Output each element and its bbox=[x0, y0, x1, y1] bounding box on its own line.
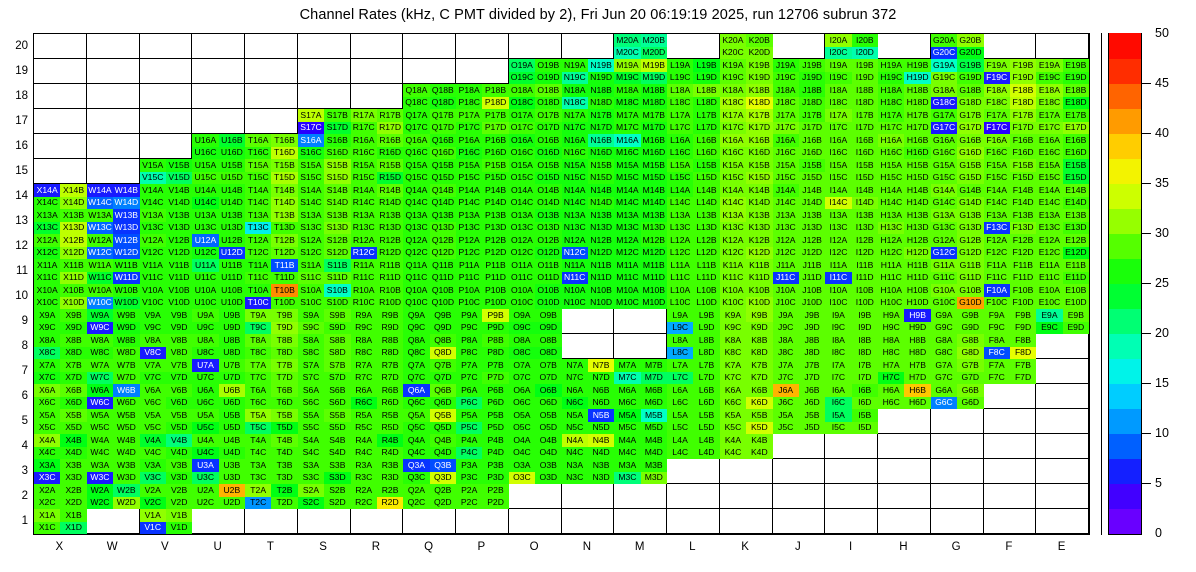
channel-subcell: T9C bbox=[245, 322, 271, 335]
channel-subcell: N4C bbox=[562, 447, 588, 460]
heatmap-cell: P4AP4BP4CP4D bbox=[456, 434, 509, 459]
channel-subcell: H8C bbox=[878, 347, 904, 360]
channel-subcell: P11B bbox=[482, 259, 508, 272]
channel-subcell: F7B bbox=[1010, 359, 1036, 372]
channel-subcell: T8C bbox=[245, 347, 271, 360]
channel-subcell: V14C bbox=[140, 197, 166, 210]
channel-subcell: J19B bbox=[799, 59, 825, 72]
channel-subcell: V11B bbox=[166, 259, 192, 272]
channel-subcell: M15C bbox=[614, 172, 640, 185]
heatmap-cell bbox=[140, 84, 193, 109]
channel-subcell: H6D bbox=[904, 397, 930, 410]
channel-subcell: S16D bbox=[324, 147, 350, 160]
channel-subcell: U7C bbox=[192, 372, 218, 385]
heatmap-cell: Q3AQ3BQ3CQ3D bbox=[403, 459, 456, 484]
channel-subcell: X2D bbox=[60, 497, 86, 510]
channel-subcell: T10A bbox=[245, 284, 271, 297]
heatmap-cell: H10AH10BH10CH10D bbox=[878, 284, 931, 309]
heatmap-cell: V11AV11BV11CV11D bbox=[140, 259, 193, 284]
channel-subcell: M12C bbox=[614, 247, 640, 260]
channel-subcell: G16A bbox=[931, 134, 957, 147]
heatmap-cell: L17AL17BL17CL17D bbox=[667, 109, 720, 134]
channel-subcell: G16C bbox=[931, 147, 957, 160]
channel-subcell: P6D bbox=[482, 397, 508, 410]
channel-subcell: H10B bbox=[904, 284, 930, 297]
channel-subcell: F14A bbox=[984, 184, 1010, 197]
channel-subcell: F15B bbox=[1010, 159, 1036, 172]
channel-subcell: S9C bbox=[298, 322, 324, 335]
channel-subcell: U6A bbox=[192, 384, 218, 397]
heatmap-cell: I19AI19BI19CI19D bbox=[825, 59, 878, 84]
channel-subcell: T15A bbox=[245, 159, 271, 172]
heatmap-cell: S16AS16BS16CS16D bbox=[298, 134, 351, 159]
channel-subcell: H16D bbox=[904, 147, 930, 160]
channel-subcell: L10A bbox=[667, 284, 693, 297]
heatmap-cell: Q16AQ16BQ16CQ16D bbox=[403, 134, 456, 159]
heatmap-cell: F11AF11BF11CF11D bbox=[984, 259, 1037, 284]
channel-subcell: T14C bbox=[245, 197, 271, 210]
heatmap-cell: X2AX2BX2CX2D bbox=[34, 484, 87, 509]
channel-subcell: L9C bbox=[667, 322, 693, 335]
channel-subcell: J11A bbox=[773, 259, 799, 272]
channel-subcell: G10B bbox=[957, 284, 983, 297]
heatmap-cell: J18AJ18BJ18CJ18D bbox=[773, 84, 826, 109]
channel-subcell: H14D bbox=[904, 197, 930, 210]
channel-subcell: P10D bbox=[482, 297, 508, 310]
channel-subcell: W3A bbox=[87, 459, 113, 472]
channel-subcell: L18D bbox=[693, 97, 719, 110]
heatmap-cell: K7AK7BK7CK7D bbox=[720, 359, 773, 384]
channel-subcell: P9C bbox=[456, 322, 482, 335]
channel-subcell: P5C bbox=[456, 422, 482, 435]
channel-subcell: U11D bbox=[219, 272, 245, 285]
heatmap-cell bbox=[245, 59, 298, 84]
channel-subcell: P11D bbox=[482, 272, 508, 285]
x-axis-tick-label: R bbox=[372, 541, 380, 553]
channel-subcell: I11A bbox=[825, 259, 851, 272]
y-axis-tick-label: 1 bbox=[2, 515, 28, 527]
channel-subcell: J17D bbox=[799, 122, 825, 135]
heatmap-cell: E10AE10BE10CE10D bbox=[1036, 284, 1089, 309]
channel-subcell: V13D bbox=[166, 222, 192, 235]
heatmap-cell: O12AO12BO12CO12D bbox=[509, 234, 562, 259]
y-axis-tick-label: 2 bbox=[2, 490, 28, 502]
channel-subcell: U13C bbox=[192, 222, 218, 235]
channel-subcell: L11A bbox=[667, 259, 693, 272]
heatmap-cell: V3AV3BV3CV3D bbox=[140, 459, 193, 484]
channel-subcell: N7A bbox=[562, 359, 588, 372]
heatmap-cell bbox=[825, 509, 878, 534]
channel-subcell: O16B bbox=[535, 134, 561, 147]
channel-subcell: X6B bbox=[60, 384, 86, 397]
channel-subcell: V10D bbox=[166, 297, 192, 310]
channel-subcell: U5D bbox=[219, 422, 245, 435]
channel-subcell: S17A bbox=[298, 109, 324, 122]
channel-subcell: L7D bbox=[693, 372, 719, 385]
channel-subcell: G12C bbox=[931, 247, 957, 260]
channel-subcell: P8D bbox=[482, 347, 508, 360]
channel-subcell: H14A bbox=[878, 184, 904, 197]
channel-subcell: L7C bbox=[667, 372, 693, 385]
heatmap-cell: E9AE9BE9CE9D bbox=[1036, 309, 1089, 334]
channel-subcell: R10C bbox=[351, 297, 377, 310]
channel-subcell: K20C bbox=[720, 47, 746, 60]
channel-subcell: V6D bbox=[166, 397, 192, 410]
channel-subcell: Q2C bbox=[403, 497, 429, 510]
channel-subcell: N12A bbox=[562, 234, 588, 247]
channel-subcell: W8D bbox=[113, 347, 139, 360]
channel-subcell: K13C bbox=[720, 222, 746, 235]
heatmap-cell: M12AM12BM12CM12D bbox=[614, 234, 667, 259]
channel-subcell: S13A bbox=[298, 209, 324, 222]
channel-subcell: O15A bbox=[509, 159, 535, 172]
channel-subcell: R12D bbox=[377, 247, 403, 260]
channel-subcell: U11C bbox=[192, 272, 218, 285]
heatmap-cell: U9AU9BU9CU9D bbox=[192, 309, 245, 334]
channel-subcell: Q15B bbox=[430, 159, 456, 172]
channel-subcell: E10C bbox=[1036, 297, 1062, 310]
y-axis-tick-label: 7 bbox=[2, 365, 28, 377]
channel-subcell: T8B bbox=[271, 334, 297, 347]
channel-subcell: M11C bbox=[614, 272, 640, 285]
channel-subcell: H19D bbox=[904, 72, 930, 85]
heatmap-cell: E16AE16BE16CE16D bbox=[1036, 134, 1089, 159]
heatmap-cell bbox=[614, 334, 667, 359]
heatmap-cell: G15AG15BG15CG15D bbox=[931, 159, 984, 184]
heatmap-cell: F12AF12BF12CF12D bbox=[984, 234, 1037, 259]
channel-subcell: I14D bbox=[852, 197, 878, 210]
heatmap-cell: Q6AQ6BQ6CQ6D bbox=[403, 384, 456, 409]
channel-subcell: W13A bbox=[87, 209, 113, 222]
channel-subcell: F8D bbox=[1010, 347, 1036, 360]
heatmap-cell bbox=[403, 34, 456, 59]
channel-subcell: T15C bbox=[245, 172, 271, 185]
channel-subcell: I5D bbox=[852, 422, 878, 435]
channel-subcell: O13D bbox=[535, 222, 561, 235]
heatmap-cell: O18AO18BO18CO18D bbox=[509, 84, 562, 109]
x-axis-tick-label: U bbox=[213, 541, 221, 553]
heatmap-cell bbox=[351, 34, 404, 59]
channel-subcell: K9B bbox=[746, 309, 772, 322]
channel-subcell: V1D bbox=[166, 522, 192, 535]
heatmap-cell: T14AT14BT14CT14D bbox=[245, 184, 298, 209]
channel-subcell: P2C bbox=[456, 497, 482, 510]
heatmap-cell: G20AG20BG20CG20D bbox=[931, 34, 984, 59]
channel-subcell: L6B bbox=[693, 384, 719, 397]
channel-subcell: T16D bbox=[271, 147, 297, 160]
channel-subcell: T9D bbox=[271, 322, 297, 335]
channel-subcell: N13C bbox=[562, 222, 588, 235]
heatmap-cell: R16AR16BR16CR16D bbox=[351, 134, 404, 159]
channel-subcell: O19C bbox=[509, 72, 535, 85]
channel-subcell: J14C bbox=[773, 197, 799, 210]
heatmap-cell: M15AM15BM15CM15D bbox=[614, 159, 667, 184]
channel-subcell: E19D bbox=[1063, 72, 1089, 85]
channel-subcell: I8B bbox=[852, 334, 878, 347]
channel-subcell: J14A bbox=[773, 184, 799, 197]
channel-subcell: K9A bbox=[720, 309, 746, 322]
channel-subcell: I5A bbox=[825, 409, 851, 422]
channel-subcell: M16A bbox=[614, 134, 640, 147]
heatmap-cell bbox=[456, 34, 509, 59]
channel-subcell: V13A bbox=[140, 209, 166, 222]
channel-subcell: U2D bbox=[219, 497, 245, 510]
channel-subcell: X11A bbox=[34, 259, 60, 272]
heatmap-cell bbox=[140, 134, 193, 159]
heatmap-cell bbox=[614, 484, 667, 509]
channel-subcell: H16A bbox=[878, 134, 904, 147]
channel-subcell: S2A bbox=[298, 484, 324, 497]
channel-subcell: X5C bbox=[34, 422, 60, 435]
channel-subcell: F9A bbox=[984, 309, 1010, 322]
channel-subcell: P16B bbox=[482, 134, 508, 147]
channel-subcell: H12C bbox=[878, 247, 904, 260]
channel-subcell: I7D bbox=[852, 372, 878, 385]
channel-subcell: W4C bbox=[87, 447, 113, 460]
heatmap-cell bbox=[878, 459, 931, 484]
channel-subcell: K7A bbox=[720, 359, 746, 372]
channel-subcell: N16D bbox=[588, 147, 614, 160]
channel-subcell: Q10C bbox=[403, 297, 429, 310]
channel-subcell: K17C bbox=[720, 122, 746, 135]
channel-subcell: G7B bbox=[957, 359, 983, 372]
channel-subcell: Q7C bbox=[403, 372, 429, 385]
heatmap-cell: V14AV14BV14CV14D bbox=[140, 184, 193, 209]
channel-subcell: H18D bbox=[904, 97, 930, 110]
channel-subcell: J12C bbox=[773, 247, 799, 260]
channel-subcell: L6D bbox=[693, 397, 719, 410]
heatmap-cell bbox=[562, 309, 615, 334]
channel-subcell: U16A bbox=[192, 134, 218, 147]
heatmap-cell: Q5AQ5BQ5CQ5D bbox=[403, 409, 456, 434]
channel-subcell: Q7A bbox=[403, 359, 429, 372]
x-axis-tick-label: H bbox=[899, 541, 907, 553]
channel-subcell: I13A bbox=[825, 209, 851, 222]
channel-subcell: Q9A bbox=[403, 309, 429, 322]
channel-subcell: J16A bbox=[773, 134, 799, 147]
channel-subcell: Q17D bbox=[430, 122, 456, 135]
heatmap-cell bbox=[351, 59, 404, 84]
x-axis-tick-label: N bbox=[583, 541, 591, 553]
heatmap-cell: O19AO19BO19CO19D bbox=[509, 59, 562, 84]
heatmap-cell bbox=[825, 484, 878, 509]
heatmap-cell: P6AP6BP6CP6D bbox=[456, 384, 509, 409]
channel-subcell: N14B bbox=[588, 184, 614, 197]
channel-subcell: K19B bbox=[746, 59, 772, 72]
channel-subcell: M4C bbox=[614, 447, 640, 460]
heatmap-cell: E18AE18BE18CE18D bbox=[1036, 84, 1089, 109]
channel-subcell: U7A bbox=[192, 359, 218, 372]
channel-subcell: U4A bbox=[192, 434, 218, 447]
heatmap-cell bbox=[34, 134, 87, 159]
y-axis-tick-label: 13 bbox=[2, 215, 28, 227]
channel-subcell: X6D bbox=[60, 397, 86, 410]
heatmap-cell: M16AM16BM16CM16D bbox=[614, 134, 667, 159]
heatmap-cell bbox=[1036, 434, 1089, 459]
channel-subcell: M15A bbox=[614, 159, 640, 172]
channel-subcell: E11B bbox=[1063, 259, 1089, 272]
channel-subcell: M19A bbox=[614, 59, 640, 72]
channel-subcell: I20B bbox=[852, 34, 878, 47]
channel-subcell: X4A bbox=[34, 434, 60, 447]
colorbar-tick-label: 20 bbox=[1155, 326, 1169, 340]
channel-subcell: V10A bbox=[140, 284, 166, 297]
channel-subcell: E19A bbox=[1036, 59, 1062, 72]
channel-subcell: V3D bbox=[166, 472, 192, 485]
channel-subcell: R15A bbox=[351, 159, 377, 172]
channel-subcell: J12A bbox=[773, 234, 799, 247]
channel-subcell: M10D bbox=[641, 297, 667, 310]
channel-subcell: S12B bbox=[324, 234, 350, 247]
channel-subcell: L14B bbox=[693, 184, 719, 197]
channel-subcell: X2C bbox=[34, 497, 60, 510]
channel-subcell: R14C bbox=[351, 197, 377, 210]
heatmap-cell: R8AR8BR8CR8D bbox=[351, 334, 404, 359]
channel-subcell: S12A bbox=[298, 234, 324, 247]
channel-subcell: P15D bbox=[482, 172, 508, 185]
colorbar-tick-label: 15 bbox=[1155, 376, 1169, 390]
channel-subcell: P8B bbox=[482, 334, 508, 347]
channel-subcell: F8B bbox=[1010, 334, 1036, 347]
heatmap-cell bbox=[667, 459, 720, 484]
channel-subcell: K20B bbox=[746, 34, 772, 47]
channel-subcell: H17C bbox=[878, 122, 904, 135]
channel-subcell: H9B bbox=[904, 309, 930, 322]
channel-subcell: J5C bbox=[773, 422, 799, 435]
channel-subcell: O8B bbox=[535, 334, 561, 347]
heatmap-cell: I14AI14BI14CI14D bbox=[825, 184, 878, 209]
heatmap-cell: S7AS7BS7CS7D bbox=[298, 359, 351, 384]
heatmap-cell bbox=[87, 134, 140, 159]
heatmap-cell: W2AW2BW2CW2D bbox=[87, 484, 140, 509]
channel-subcell: X11C bbox=[34, 272, 60, 285]
heatmap-cell: L9AL9BL9CL9D bbox=[667, 309, 720, 334]
heatmap-cell: M5AM5BM5CM5D bbox=[614, 409, 667, 434]
heatmap-cell: N4AN4BN4CN4D bbox=[562, 434, 615, 459]
channel-subcell: I18A bbox=[825, 84, 851, 97]
channel-subcell: Q16D bbox=[430, 147, 456, 160]
channel-subcell: O7C bbox=[509, 372, 535, 385]
channel-subcell: I16C bbox=[825, 147, 851, 160]
channel-subcell: K19A bbox=[720, 59, 746, 72]
channel-subcell: J13D bbox=[799, 222, 825, 235]
channel-subcell: Q4A bbox=[403, 434, 429, 447]
channel-subcell: L19A bbox=[667, 59, 693, 72]
channel-subcell: O18D bbox=[535, 97, 561, 110]
channel-subcell: S4A bbox=[298, 434, 324, 447]
channel-subcell: K13B bbox=[746, 209, 772, 222]
channel-subcell: S4D bbox=[324, 447, 350, 460]
channel-subcell: V9A bbox=[140, 309, 166, 322]
channel-subcell: N3D bbox=[588, 472, 614, 485]
channel-subcell: F18D bbox=[1010, 97, 1036, 110]
heatmap-cell: F7AF7BF7CF7D bbox=[984, 359, 1037, 384]
heatmap-cell: T15AT15BT15CT15D bbox=[245, 159, 298, 184]
channel-subcell: T15D bbox=[271, 172, 297, 185]
heatmap-cell: W3AW3BW3CW3D bbox=[87, 459, 140, 484]
channel-subcell: R9C bbox=[351, 322, 377, 335]
channel-subcell: H6A bbox=[878, 384, 904, 397]
channel-subcell: Q2B bbox=[430, 484, 456, 497]
channel-subcell: L19D bbox=[693, 72, 719, 85]
channel-subcell: L11B bbox=[693, 259, 719, 272]
heatmap-cell bbox=[298, 34, 351, 59]
channel-subcell: V3C bbox=[140, 472, 166, 485]
heatmap-cell: E14AE14BE14CE14D bbox=[1036, 184, 1089, 209]
channel-subcell: M19D bbox=[641, 72, 667, 85]
colorbar-tick-label: 30 bbox=[1155, 226, 1169, 240]
channel-subcell: E18A bbox=[1036, 84, 1062, 97]
channel-subcell: U2B bbox=[219, 484, 245, 497]
heatmap-cell: R3AR3BR3CR3D bbox=[351, 459, 404, 484]
channel-subcell: N6A bbox=[562, 384, 588, 397]
channel-subcell: N3C bbox=[562, 472, 588, 485]
channel-subcell: V7D bbox=[166, 372, 192, 385]
channel-subcell: V1A bbox=[140, 509, 166, 522]
heatmap-cell: M13AM13BM13CM13D bbox=[614, 209, 667, 234]
channel-subcell: O3A bbox=[509, 459, 535, 472]
channel-subcell: W2B bbox=[113, 484, 139, 497]
channel-subcell: V4A bbox=[140, 434, 166, 447]
heatmap-cell: X8AX8BX8CX8D bbox=[34, 334, 87, 359]
channel-subcell: P16D bbox=[482, 147, 508, 160]
channel-subcell: V3A bbox=[140, 459, 166, 472]
channel-subcell: N12D bbox=[588, 247, 614, 260]
channel-subcell: E17B bbox=[1063, 109, 1089, 122]
channel-subcell: O11A bbox=[509, 259, 535, 272]
heatmap-cell: F15AF15BF15CF15D bbox=[984, 159, 1037, 184]
channel-subcell: U4B bbox=[219, 434, 245, 447]
heatmap-cell: T13AT13BT13CT13D bbox=[245, 209, 298, 234]
channel-subcell: H11B bbox=[904, 259, 930, 272]
channel-subcell: S3B bbox=[324, 459, 350, 472]
channel-subcell: H17B bbox=[904, 109, 930, 122]
channel-subcell: H14B bbox=[904, 184, 930, 197]
channel-subcell: O14D bbox=[535, 197, 561, 210]
channel-subcell: X12B bbox=[60, 234, 86, 247]
channel-subcell: S14C bbox=[298, 197, 324, 210]
channel-subcell: W6D bbox=[113, 397, 139, 410]
channel-subcell: K14D bbox=[746, 197, 772, 210]
channel-subcell: N15D bbox=[588, 172, 614, 185]
channel-subcell: N19A bbox=[562, 59, 588, 72]
heatmap-cell: T2AT2BT2CT2D bbox=[245, 484, 298, 509]
heatmap-cell: O11AO11BO11CO11D bbox=[509, 259, 562, 284]
channel-subcell: R9D bbox=[377, 322, 403, 335]
channel-subcell: W3B bbox=[113, 459, 139, 472]
heatmap-cell bbox=[245, 509, 298, 534]
channel-subcell: I5C bbox=[825, 422, 851, 435]
channel-subcell: I18D bbox=[852, 97, 878, 110]
channel-subcell: J7B bbox=[799, 359, 825, 372]
channel-subcell: Q14B bbox=[430, 184, 456, 197]
channel-subcell: S5D bbox=[324, 422, 350, 435]
channel-subcell: M12B bbox=[641, 234, 667, 247]
heatmap-cell: X9AX9BX9CX9D bbox=[34, 309, 87, 334]
channel-subcell: S6A bbox=[298, 384, 324, 397]
channel-subcell: I16B bbox=[852, 134, 878, 147]
channel-subcell: Q4D bbox=[430, 447, 456, 460]
heatmap-cell: X6AX6BX6CX6D bbox=[34, 384, 87, 409]
channel-subcell: N5B bbox=[588, 409, 614, 422]
channel-subcell: V12A bbox=[140, 234, 166, 247]
channel-subcell: S2B bbox=[324, 484, 350, 497]
channel-subcell: E12C bbox=[1036, 247, 1062, 260]
channel-subcell: L18A bbox=[667, 84, 693, 97]
heatmap-cell: G13AG13BG13CG13D bbox=[931, 209, 984, 234]
channel-subcell: G17D bbox=[957, 122, 983, 135]
colorbar-tick bbox=[1142, 183, 1151, 184]
